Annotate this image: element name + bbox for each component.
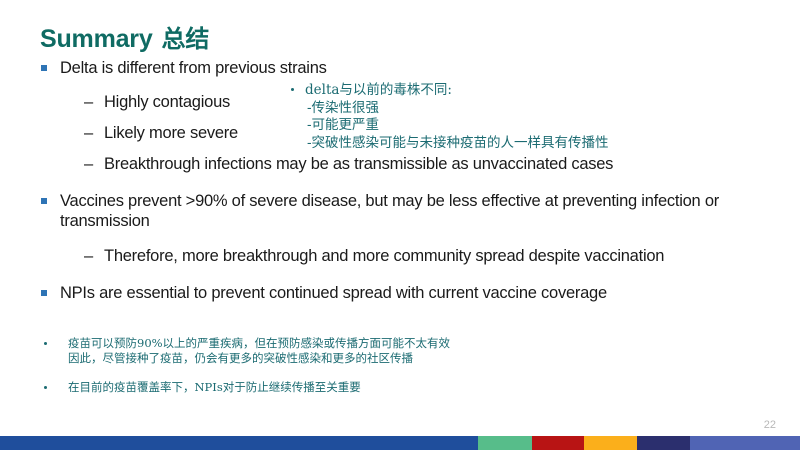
bullet-text: Breakthrough infections may be as transm… — [104, 155, 613, 173]
bullet-level2: – Therefore, more breakthrough and more … — [38, 246, 738, 266]
chinese-annotation-top: delta与以前的毒株不同: -传染性很强 -可能更严重 -突破性感染可能与未接… — [289, 82, 609, 152]
bar-segment-green — [478, 436, 532, 450]
bar-segment-orange — [584, 436, 637, 450]
annotation-sub-line: -突破性感染可能与未接种疫苗的人一样具有传播性 — [289, 135, 609, 153]
page-number: 22 — [764, 419, 776, 431]
bullet-text: Highly contagious — [104, 93, 230, 111]
annotation-head-line: delta与以前的毒株不同: — [289, 82, 609, 100]
dash-bullet-icon: – — [84, 123, 93, 143]
dash-bullet-icon: – — [84, 92, 93, 112]
bar-segment-red — [532, 436, 584, 450]
bullet-level1: NPIs are essential to prevent continued … — [38, 283, 738, 303]
annotation-sub-line: -可能更严重 — [289, 117, 609, 135]
bullet-level1: Delta is different from previous strains — [38, 58, 738, 78]
square-bullet-icon — [41, 290, 47, 296]
page-title: Summary总结 — [40, 19, 209, 54]
page-title-zh: 总结 — [162, 26, 210, 53]
bullet-text: Delta is different from previous strains — [60, 59, 327, 77]
bullet-text: NPIs are essential to prevent continued … — [60, 284, 607, 302]
bullet-level2: – Breakthrough infections may be as tran… — [38, 154, 738, 174]
bar-segment-periwinkle — [690, 436, 800, 450]
annotation-line: 因此，尽管接种了疫苗，仍会有更多的突破性感染和更多的社区传播 — [68, 351, 450, 366]
dot-bullet-icon — [291, 88, 294, 91]
bullet-level1: Vaccines prevent >90% of severe disease,… — [38, 191, 738, 231]
square-bullet-icon — [41, 198, 47, 204]
chinese-annotation-bottom: 疫苗可以预防90%以上的严重疾病，但在预防感染或传播方面可能不太有效 因此，尽管… — [38, 336, 450, 409]
bullet-text: Vaccines prevent >90% of severe disease,… — [60, 192, 719, 230]
slide-canvas: Summary总结 Delta is different from previo… — [0, 0, 800, 450]
annotation-item: 疫苗可以预防90%以上的严重疾病，但在预防感染或传播方面可能不太有效 因此，尽管… — [38, 336, 450, 366]
bottom-color-bar — [0, 436, 800, 450]
bar-segment-navy — [637, 436, 690, 450]
annotation-sub-line: -传染性很强 — [289, 100, 609, 118]
square-bullet-icon — [41, 65, 47, 71]
annotation-line: 在目前的疫苗覆盖率下，NPIs对于防止继续传播至关重要 — [68, 380, 450, 395]
bar-segment-dark-blue — [0, 436, 478, 450]
dot-bullet-icon — [44, 386, 47, 389]
bullet-text: Therefore, more breakthrough and more co… — [104, 247, 664, 265]
dash-bullet-icon: – — [84, 246, 93, 266]
annotation-item: 在目前的疫苗覆盖率下，NPIs对于防止继续传播至关重要 — [38, 380, 450, 395]
page-title-en: Summary — [40, 25, 153, 53]
annotation-line: 疫苗可以预防90%以上的严重疾病，但在预防感染或传播方面可能不太有效 — [68, 336, 450, 351]
dot-bullet-icon — [44, 342, 47, 345]
bullet-text: Likely more severe — [104, 124, 238, 142]
dash-bullet-icon: – — [84, 154, 93, 174]
annotation-head-text: delta与以前的毒株不同: — [305, 82, 452, 98]
